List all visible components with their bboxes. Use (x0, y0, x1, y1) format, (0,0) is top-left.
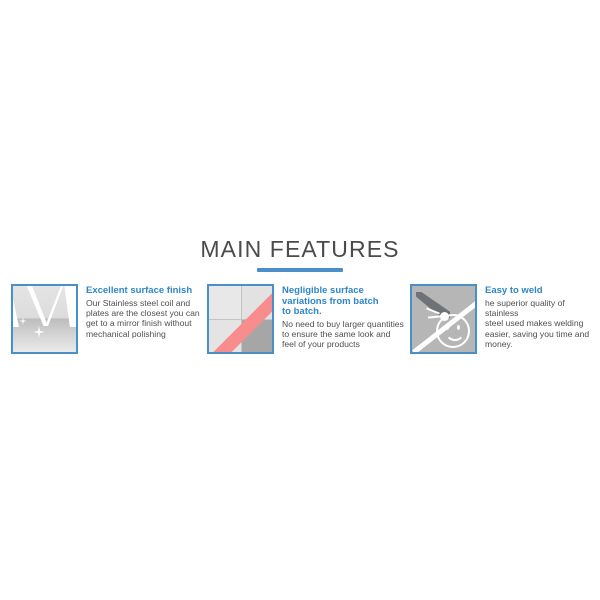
feature-text-block: Easy to weld he superior quality of stai… (485, 284, 600, 350)
grid-quadrant-top-left (209, 286, 241, 319)
feature-text-block: Excellent surface finish Our Stainless s… (86, 284, 200, 339)
features-row: Excellent surface finish Our Stainless s… (0, 284, 600, 354)
feature-heading: Excellent surface finish (86, 286, 200, 297)
batch-consistency-icon (207, 284, 274, 354)
feature-item-surface-finish: Excellent surface finish Our Stainless s… (11, 284, 207, 354)
feature-body: No need to buy larger quantities to ensu… (282, 319, 404, 350)
title-underline (257, 268, 343, 272)
feature-heading: Easy to weld (485, 286, 600, 297)
feature-item-easy-to-weld: Easy to weld he superior quality of stai… (410, 284, 600, 354)
slide-canvas: MAIN FEATURES Excellent surface finish O… (0, 0, 600, 600)
feature-body: Our Stainless steel coil and plates are … (86, 298, 200, 340)
welding-smiley-icon (410, 284, 477, 354)
reflection-vee (26, 284, 64, 326)
feature-item-batch-variation: Negligible surface variations from batch… (207, 284, 407, 354)
smiley-mouth (445, 329, 465, 341)
sparkle-small-icon (19, 317, 27, 325)
smiley-face-icon (436, 314, 470, 348)
page-title: MAIN FEATURES (0, 236, 600, 262)
weld-spark-2 (428, 315, 440, 318)
light-ray-right (64, 284, 77, 327)
title-block: MAIN FEATURES (0, 236, 600, 272)
feature-text-block: Negligible surface variations from batch… (282, 284, 404, 350)
feature-body: he superior quality of stainless steel u… (485, 298, 600, 350)
sparkle-icon (33, 326, 45, 338)
feature-heading: Negligible surface variations from batch… (282, 286, 404, 318)
mirror-finish-icon (11, 284, 78, 354)
